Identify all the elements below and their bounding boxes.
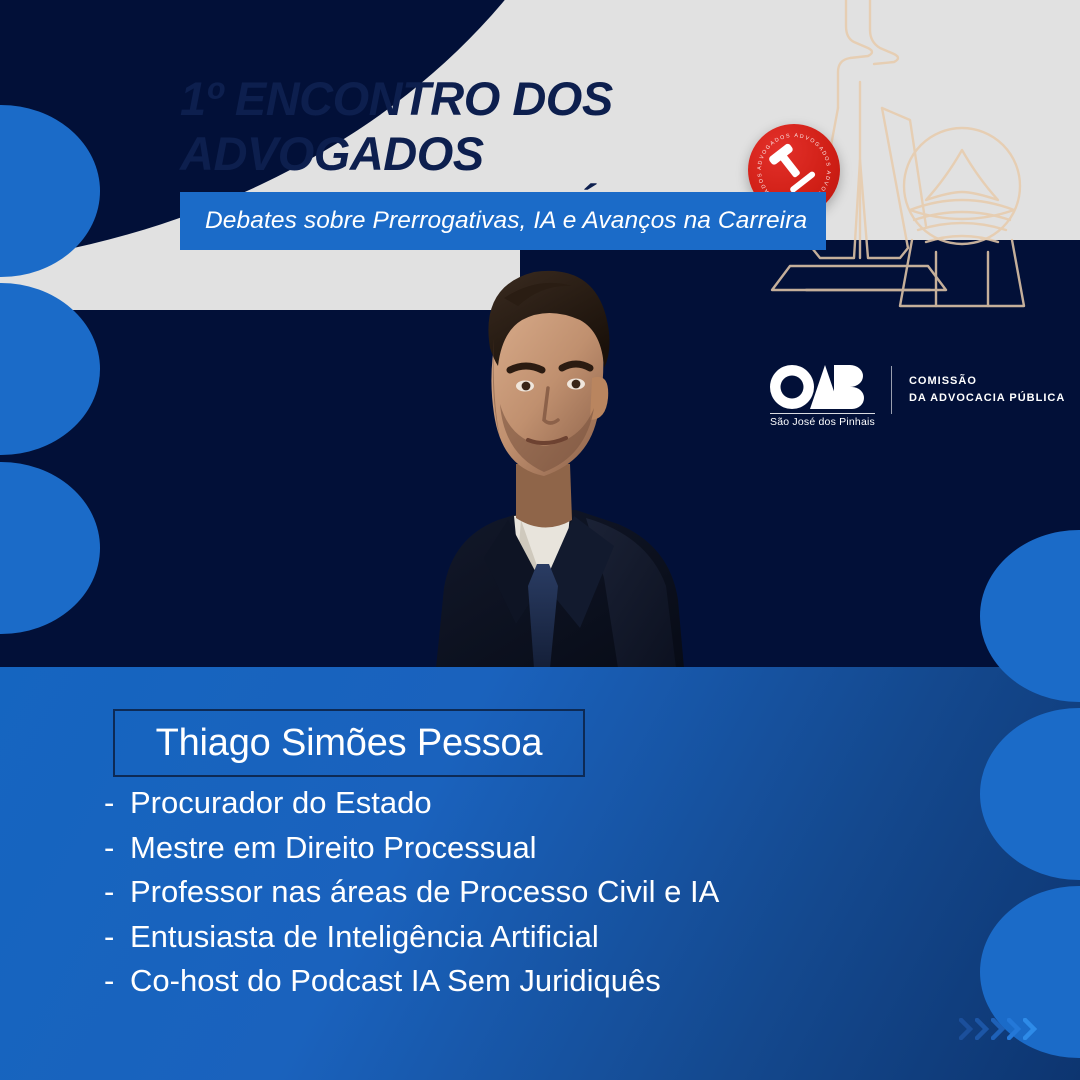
poster-canvas: 1º ENCONTRO DOS ADVOGADOS E ADVOGADAS PÚ… bbox=[0, 0, 1080, 1080]
event-subtitle: Debates sobre Prerrogativas, IA e Avanço… bbox=[205, 207, 807, 235]
oab-city-label: São José dos Pinhais bbox=[770, 413, 875, 428]
chevron-right-icon-4 bbox=[1007, 1018, 1022, 1040]
bullet-marker: - bbox=[104, 876, 130, 907]
speaker-portrait bbox=[318, 228, 768, 668]
event-title-line-1: 1º ENCONTRO DOS ADVOGADOS bbox=[180, 72, 613, 180]
list-item: - Procurador do Estado bbox=[104, 787, 964, 818]
credential-text: Procurador do Estado bbox=[130, 787, 432, 818]
chevron-right-icon-2 bbox=[975, 1018, 990, 1040]
event-subtitle-banner: Debates sobre Prerrogativas, IA e Avanço… bbox=[180, 192, 826, 250]
bullet-marker: - bbox=[104, 965, 130, 996]
bullet-marker: - bbox=[104, 787, 130, 818]
chevron-arrows-decor bbox=[959, 1018, 1038, 1040]
chevron-right-icon-1 bbox=[959, 1018, 974, 1040]
chevron-right-icon-3 bbox=[991, 1018, 1006, 1040]
gavel-icon bbox=[768, 143, 808, 184]
list-item: - Entusiasta de Inteligência Artificial bbox=[104, 921, 964, 952]
logo-divider bbox=[891, 366, 892, 414]
credential-text: Mestre em Direito Processual bbox=[130, 832, 537, 863]
list-item: - Co-host do Podcast IA Sem Juridiquês bbox=[104, 965, 964, 996]
list-item: - Professor nas áreas de Processo Civil … bbox=[104, 876, 964, 907]
oab-logo-block: São José dos Pinhais COMISSÃO DA ADVOCAC… bbox=[770, 364, 1065, 428]
credential-text: Professor nas áreas de Processo Civil e … bbox=[130, 876, 719, 907]
credential-text: Co-host do Podcast IA Sem Juridiquês bbox=[130, 965, 661, 996]
credential-text: Entusiasta de Inteligência Artificial bbox=[130, 921, 599, 952]
speaker-name-box: Thiago Simões Pessoa bbox=[113, 709, 585, 777]
bullet-marker: - bbox=[104, 921, 130, 952]
chevron-right-icon-5 bbox=[1023, 1018, 1038, 1040]
oab-wordmark-icon bbox=[770, 364, 874, 410]
speaker-credentials-list: - Procurador do Estado - Mestre em Direi… bbox=[104, 787, 964, 1010]
speaker-name: Thiago Simões Pessoa bbox=[156, 722, 543, 765]
bullet-marker: - bbox=[104, 832, 130, 863]
commission-line-2: DA ADVOCACIA PÚBLICA bbox=[909, 390, 1065, 407]
list-item: - Mestre em Direito Processual bbox=[104, 832, 964, 863]
commission-line-1: COMISSÃO bbox=[909, 373, 1065, 390]
